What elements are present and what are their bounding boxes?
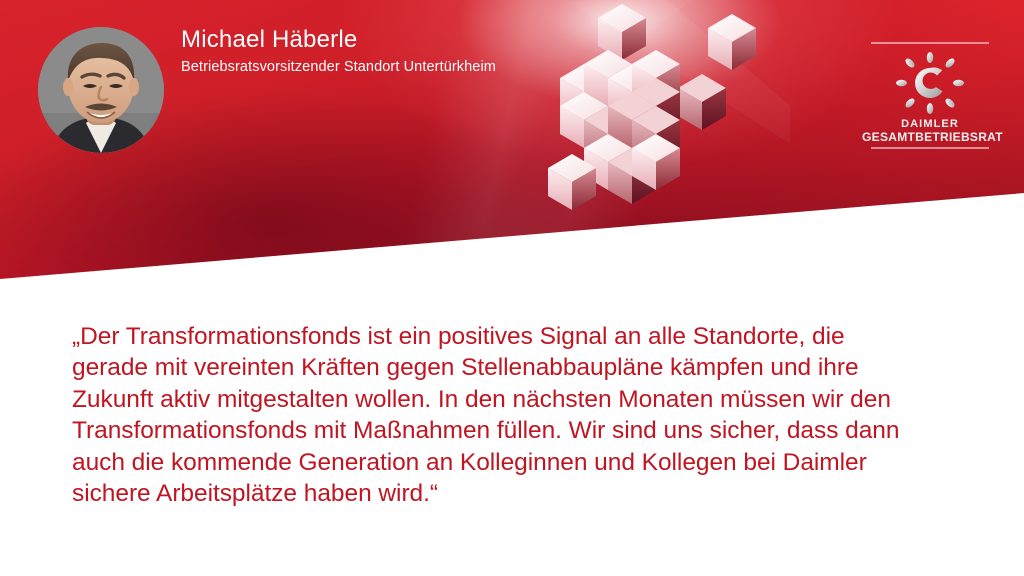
logo-text-gesamtbetriebsrat: GESAMTBETRIEBSRAT (862, 130, 998, 144)
sun-icon (896, 52, 964, 114)
quote-line: auch die kommende Generation an Kollegin… (72, 447, 1022, 479)
3d-cubes-graphic (540, 0, 790, 224)
speaker-role: Betriebsratsvorsitzender Standort Untert… (181, 57, 496, 77)
avatar (38, 27, 164, 153)
quote-line: sichere Arbeitsplätze haben wird.“ (72, 478, 1022, 510)
logo-divider-bottom (871, 147, 989, 149)
logo-divider-top (871, 42, 989, 44)
header-band: Michael Häberle Betriebsratsvorsitzender… (0, 0, 1024, 290)
quote-line: Zukunft aktiv mitgestalten wollen. In de… (72, 384, 1022, 416)
page-title: Michael Häberle (181, 25, 496, 55)
slide-canvas: Michael Häberle Betriebsratsvorsitzender… (0, 0, 1024, 576)
quote-line: gerade mit vereinten Kräften gegen Stell… (72, 352, 1022, 384)
daimler-gesamtbetriebsrat-logo: DAIMLER GESAMTBETRIEBSRAT (862, 42, 998, 154)
quote-line: „Der Transformationsfonds ist ein positi… (72, 321, 1022, 353)
quote-text: „Der Transformationsfonds ist ein positi… (72, 321, 1022, 510)
logo-text-daimler: DAIMLER (862, 118, 998, 130)
quote-line: Transformationsfonds mit Maßnahmen fülle… (72, 415, 1022, 447)
speaker-identity: Michael Häberle Betriebsratsvorsitzender… (181, 25, 496, 77)
